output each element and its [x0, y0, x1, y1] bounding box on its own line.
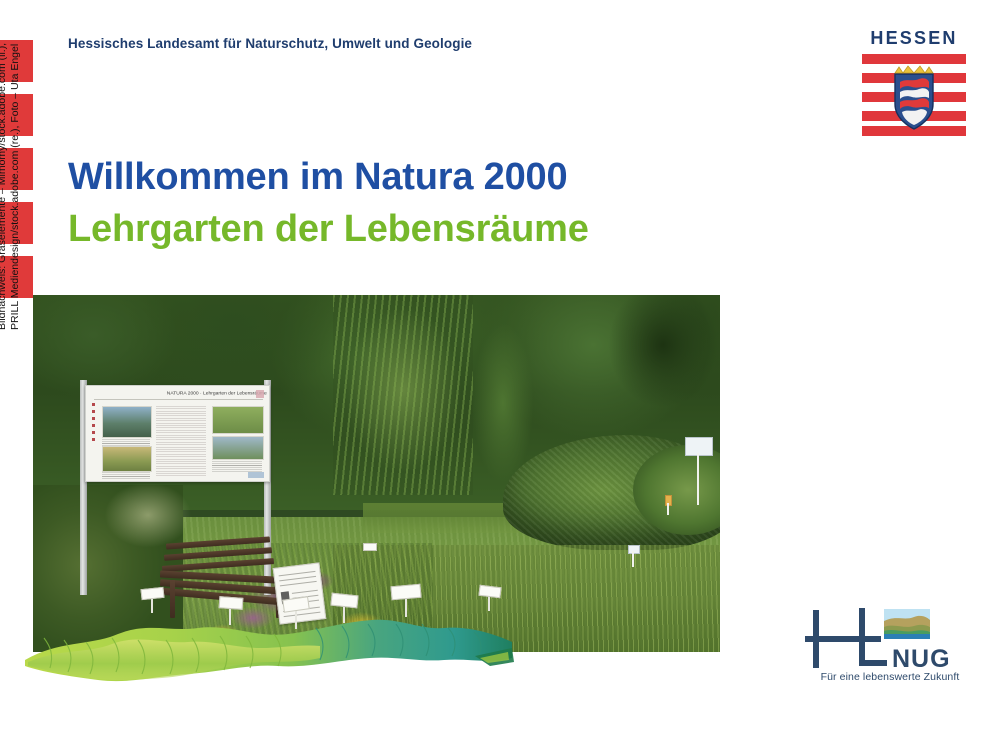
photo-credit: Bildnachweis: Graselemente – Mimomy/stoc… — [0, 0, 21, 330]
grass-decoration — [20, 598, 520, 698]
info-board-title: NATURA 2000 · Lehrgarten der Lebensräume — [108, 390, 270, 396]
garden-sign-post — [685, 437, 711, 505]
hessen-coat-of-arms-icon — [893, 60, 935, 130]
photo-credit-line1: Bildnachweis: Graselemente – Mimomy/stoc… — [0, 0, 9, 330]
hlnug-logo: NUG Für eine lebenswerte Zukunft — [800, 605, 980, 695]
poster-page: Hessisches Landesamt für Naturschutz, Um… — [0, 0, 990, 744]
organisation-name: Hessisches Landesamt für Naturschutz, Um… — [68, 36, 472, 51]
photo-credit-line2: PRILL Mediendesign/stock.adobe.com (re.)… — [9, 0, 22, 330]
hessen-wordmark: HESSEN — [862, 28, 966, 48]
page-title-primary: Willkommen im Natura 2000 — [68, 156, 567, 199]
hessen-flag-icon — [862, 54, 966, 136]
hlnug-tagline: Für eine lebenswerte Zukunft — [800, 671, 980, 683]
garden-sign-post-small — [665, 495, 670, 515]
svg-text:NUG: NUG — [892, 645, 951, 673]
hlnug-mark-icon: NUG — [800, 605, 980, 675]
hessen-logo: HESSEN — [862, 28, 966, 140]
info-board: NATURA 2000 · Lehrgarten der Lebensräume — [85, 385, 270, 482]
plant-label-tag — [363, 543, 377, 551]
page-title-secondary: Lehrgarten der Lebensräume — [68, 208, 589, 251]
garden-sign-post-small — [628, 545, 638, 567]
